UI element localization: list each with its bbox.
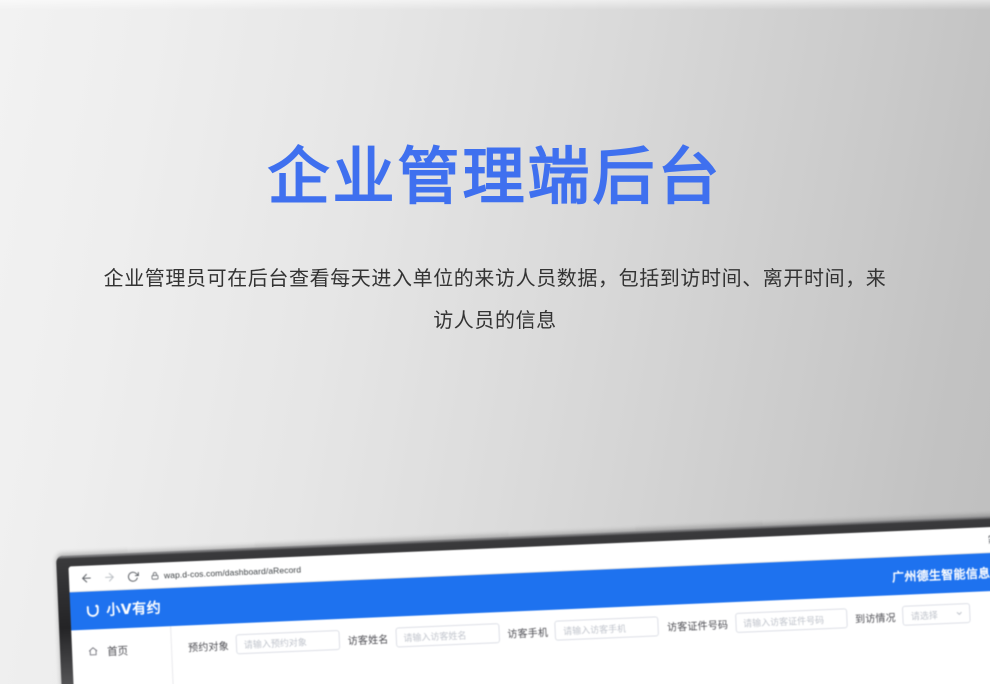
forward-arrow-icon[interactable] bbox=[101, 568, 119, 586]
browser-window: wap.d-cos.com/dashboard/aRecord bbox=[68, 524, 990, 684]
brand[interactable]: 小V有约 bbox=[84, 598, 162, 621]
input-placeholder: 请输入预约对象 bbox=[243, 635, 307, 651]
input-placeholder: 请输入访客姓名 bbox=[403, 628, 467, 644]
filter-visit-status: 到访情况 请选择 bbox=[855, 603, 972, 628]
home-icon bbox=[88, 646, 98, 656]
smile-u-logo-icon bbox=[84, 602, 102, 620]
appointment-target-input[interactable]: 请输入预约对象 bbox=[235, 630, 340, 654]
field-label: 到访情况 bbox=[855, 609, 896, 626]
monitor-mockup: wap.d-cos.com/dashboard/aRecord bbox=[56, 513, 990, 684]
page-title: 企业管理端后台 bbox=[0, 0, 990, 211]
filter-appointment-target: 预约对象 请输入预约对象 bbox=[188, 630, 341, 656]
back-arrow-icon[interactable] bbox=[78, 569, 96, 587]
field-label: 访客姓名 bbox=[347, 630, 388, 647]
input-placeholder: 请输入访客证件号码 bbox=[743, 613, 824, 629]
filter-visitor-name: 访客姓名 请输入访客姓名 bbox=[347, 623, 500, 649]
sidebar: 首页 bbox=[71, 626, 176, 684]
filter-visitor-id-number: 访客证件号码 请输入访客证件号码 bbox=[667, 608, 848, 636]
filter-visitor-phone: 访客手机 请输入访客手机 bbox=[507, 616, 660, 642]
browser-actions bbox=[978, 532, 990, 546]
url-text: wap.d-cos.com/dashboard/aRecord bbox=[164, 564, 302, 580]
lock-icon bbox=[151, 571, 159, 579]
visitor-id-number-input[interactable]: 请输入访客证件号码 bbox=[735, 608, 848, 633]
select-placeholder: 请选择 bbox=[911, 608, 939, 622]
sidebar-item-home[interactable]: 首页 bbox=[72, 637, 172, 663]
visitor-phone-input[interactable]: 请输入访客手机 bbox=[555, 616, 660, 640]
input-placeholder: 请输入访客手机 bbox=[563, 621, 627, 637]
field-label: 预约对象 bbox=[188, 637, 229, 654]
sidebar-item-label: 首页 bbox=[107, 643, 129, 659]
field-label: 访客手机 bbox=[507, 624, 548, 641]
reload-icon[interactable] bbox=[124, 567, 142, 585]
visitor-name-input[interactable]: 请输入访客姓名 bbox=[395, 623, 500, 647]
hero-section: 企业管理端后台 企业管理员可在后台查看每天进入单位的来访人员数据，包括到访时间、… bbox=[0, 0, 990, 341]
brand-name: 小V有约 bbox=[106, 598, 162, 620]
chevron-down-icon bbox=[956, 609, 964, 617]
page-root: 企业管理端后台 企业管理员可在后台查看每天进入单位的来访人员数据，包括到访时间、… bbox=[0, 0, 990, 684]
page-description: 企业管理员可在后台查看每天进入单位的来访人员数据，包括到访时间、离开时间，来访人… bbox=[95, 211, 895, 341]
monitor-bezel: wap.d-cos.com/dashboard/aRecord bbox=[56, 513, 990, 684]
visit-status-select[interactable]: 请选择 bbox=[902, 603, 971, 626]
organization-name: 广州德生智能信息技术有限 bbox=[892, 561, 990, 584]
field-label: 访客证件号码 bbox=[667, 616, 729, 634]
